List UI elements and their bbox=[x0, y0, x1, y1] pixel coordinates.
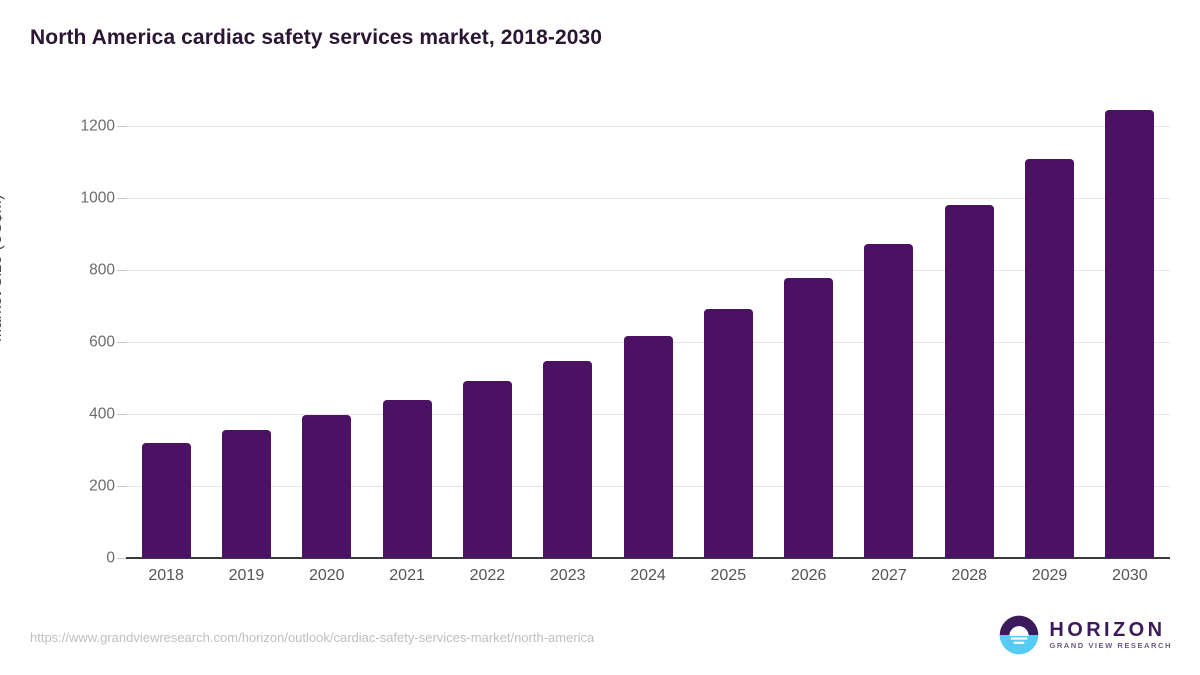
y-axis-tick-label: 800 bbox=[89, 262, 115, 278]
y-axis-tick-label: 0 bbox=[106, 550, 115, 566]
logo-name: HORIZON bbox=[1049, 620, 1165, 641]
bar-2027[interactable] bbox=[864, 244, 913, 558]
x-axis-tick-label: 2023 bbox=[528, 567, 608, 585]
y-axis-tick-label: 1200 bbox=[81, 118, 115, 134]
horizon-circle-icon bbox=[998, 614, 1040, 656]
horizon-logo: HORIZON GRAND VIEW RESEARCH bbox=[998, 614, 1172, 656]
y-axis-tick-mark bbox=[117, 198, 126, 199]
y-axis-tick-label: 200 bbox=[89, 478, 115, 494]
y-axis-tick-mark bbox=[117, 126, 126, 127]
x-axis-tick-label: 2025 bbox=[688, 567, 768, 585]
chart-canvas: Market Size (US$M) 020040060080010001200… bbox=[0, 0, 1200, 675]
source-url[interactable]: https://www.grandviewresearch.com/horizo… bbox=[30, 630, 594, 645]
y-axis-tick-label: 400 bbox=[89, 406, 115, 422]
y-axis-tick-mark bbox=[117, 558, 126, 559]
bar-2019[interactable] bbox=[222, 430, 271, 558]
x-axis-tick-label: 2027 bbox=[849, 567, 929, 585]
bar-2026[interactable] bbox=[784, 278, 833, 558]
x-axis-tick-label: 2030 bbox=[1090, 567, 1170, 585]
bar-2029[interactable] bbox=[1025, 159, 1074, 558]
x-axis-tick-label: 2021 bbox=[367, 567, 447, 585]
logo-subtitle: GRAND VIEW RESEARCH bbox=[1049, 642, 1172, 650]
y-axis-tick-label: 1000 bbox=[81, 190, 115, 206]
y-axis-tick-mark bbox=[117, 414, 126, 415]
bar-2030[interactable] bbox=[1105, 110, 1154, 558]
logo-wordmark: HORIZON GRAND VIEW RESEARCH bbox=[1049, 620, 1172, 650]
bar-2024[interactable] bbox=[624, 336, 673, 558]
bar-2020[interactable] bbox=[302, 415, 351, 558]
x-axis-tick-label: 2024 bbox=[608, 567, 688, 585]
bar-2028[interactable] bbox=[945, 205, 994, 558]
x-axis-tick-label: 2029 bbox=[1010, 567, 1090, 585]
bar-2018[interactable] bbox=[142, 443, 191, 558]
y-axis-tick-mark bbox=[117, 486, 126, 487]
y-axis-tick-mark bbox=[117, 270, 126, 271]
bars-group bbox=[126, 126, 1170, 558]
bar-2022[interactable] bbox=[463, 381, 512, 558]
x-axis-tick-label: 2020 bbox=[287, 567, 367, 585]
x-axis-tick-label: 2028 bbox=[929, 567, 1009, 585]
x-axis-tick-label: 2022 bbox=[447, 567, 527, 585]
x-axis-tick-label: 2019 bbox=[206, 567, 286, 585]
x-axis-tick-label: 2018 bbox=[126, 567, 206, 585]
y-axis-tick-label: 600 bbox=[89, 334, 115, 350]
x-axis-tick-label: 2026 bbox=[769, 567, 849, 585]
bar-2021[interactable] bbox=[383, 400, 432, 558]
bar-2023[interactable] bbox=[543, 361, 592, 558]
y-axis-tick-mark bbox=[117, 342, 126, 343]
chart-page: North America cardiac safety services ma… bbox=[0, 0, 1200, 675]
bar-2025[interactable] bbox=[704, 309, 753, 558]
y-axis-title: Market Size (US$M) bbox=[0, 194, 6, 342]
